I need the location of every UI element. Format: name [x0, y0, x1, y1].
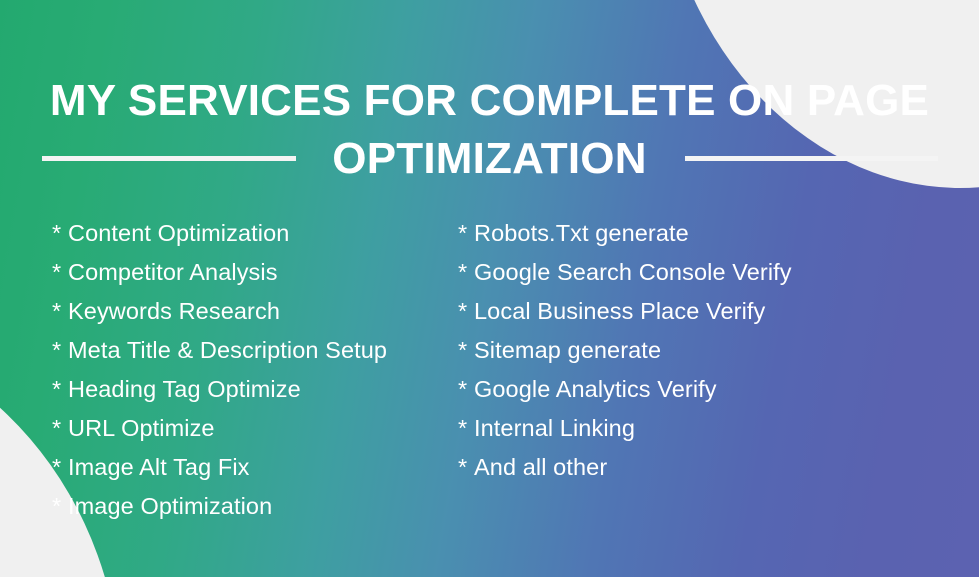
service-item: *URL Optimize — [52, 409, 430, 448]
service-item-label: Internal Linking — [474, 415, 635, 441]
service-item-label: Keywords Research — [68, 298, 280, 324]
service-item-label: Robots.Txt generate — [474, 220, 689, 246]
asterisk-bullet-icon: * — [52, 409, 68, 448]
services-column-left: *Content Optimization *Competitor Analys… — [0, 214, 430, 526]
service-item: *And all other — [458, 448, 930, 487]
asterisk-bullet-icon: * — [458, 292, 474, 331]
asterisk-bullet-icon: * — [52, 331, 68, 370]
headline-line-2: OPTIMIZATION — [0, 130, 979, 188]
service-item: *Competitor Analysis — [52, 253, 430, 292]
service-item: *Meta Title & Description Setup — [52, 331, 430, 370]
asterisk-bullet-icon: * — [52, 487, 68, 526]
service-item-label: Google Analytics Verify — [474, 376, 717, 402]
service-item: *Content Optimization — [52, 214, 430, 253]
service-item: *Local Business Place Verify — [458, 292, 930, 331]
service-item-label: And all other — [474, 454, 607, 480]
heading-block: MY SERVICES FOR COMPLETE ON PAGE OPTIMIZ… — [0, 72, 979, 188]
service-item: *Image Optimization — [52, 487, 430, 526]
asterisk-bullet-icon: * — [52, 292, 68, 331]
asterisk-bullet-icon: * — [458, 448, 474, 487]
service-item-label: Google Search Console Verify — [474, 259, 792, 285]
asterisk-bullet-icon: * — [52, 214, 68, 253]
service-item-label: Meta Title & Description Setup — [68, 337, 387, 363]
service-item: *Sitemap generate — [458, 331, 930, 370]
service-item-label: URL Optimize — [68, 415, 215, 441]
service-item-label: Competitor Analysis — [68, 259, 278, 285]
service-item-label: Heading Tag Optimize — [68, 376, 301, 402]
services-column-right: *Robots.Txt generate *Google Search Cons… — [430, 214, 930, 526]
services-banner: MY SERVICES FOR COMPLETE ON PAGE OPTIMIZ… — [0, 0, 979, 577]
service-item-label: Image Optimization — [68, 493, 272, 519]
service-item: *Image Alt Tag Fix — [52, 448, 430, 487]
asterisk-bullet-icon: * — [52, 370, 68, 409]
asterisk-bullet-icon: * — [52, 253, 68, 292]
asterisk-bullet-icon: * — [458, 370, 474, 409]
service-item-label: Sitemap generate — [474, 337, 661, 363]
asterisk-bullet-icon: * — [458, 253, 474, 292]
service-item-label: Local Business Place Verify — [474, 298, 765, 324]
asterisk-bullet-icon: * — [458, 214, 474, 253]
asterisk-bullet-icon: * — [458, 331, 474, 370]
service-item: *Robots.Txt generate — [458, 214, 930, 253]
headline-line-1: MY SERVICES FOR COMPLETE ON PAGE — [0, 72, 979, 130]
service-item-label: Image Alt Tag Fix — [68, 454, 250, 480]
service-item: *Google Search Console Verify — [458, 253, 930, 292]
banner-content: MY SERVICES FOR COMPLETE ON PAGE OPTIMIZ… — [0, 0, 979, 577]
services-lists: *Content Optimization *Competitor Analys… — [0, 214, 979, 526]
service-item: *Internal Linking — [458, 409, 930, 448]
service-item: *Keywords Research — [52, 292, 430, 331]
service-item: *Google Analytics Verify — [458, 370, 930, 409]
service-item: *Heading Tag Optimize — [52, 370, 430, 409]
asterisk-bullet-icon: * — [458, 409, 474, 448]
asterisk-bullet-icon: * — [52, 448, 68, 487]
service-item-label: Content Optimization — [68, 220, 289, 246]
headline-line-2-row: OPTIMIZATION — [0, 130, 979, 188]
